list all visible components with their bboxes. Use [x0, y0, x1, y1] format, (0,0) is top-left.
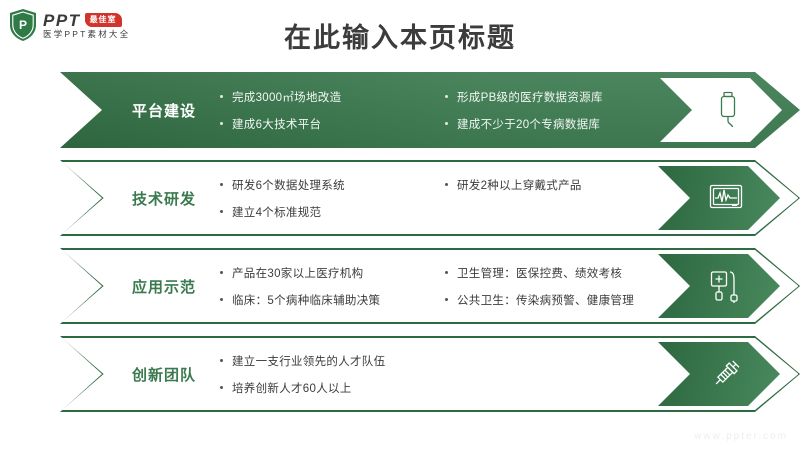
list-item: 研发6个数据处理系统 [220, 171, 445, 198]
process-rows: 平台建设 完成3000㎡场地改造 形成PB级的医疗数据资源库 建成6大技术平台 … [0, 72, 800, 424]
list-item: 临床：5个病种临床辅助决策 [220, 286, 445, 313]
list-item: 公共卫生：传染病预警、健康管理 [445, 286, 670, 313]
list-item: 形成PB级的医疗数据资源库 [445, 83, 670, 110]
list-item: 卫生管理：医保控费、绩效考核 [445, 259, 670, 286]
ecg-monitor-icon [709, 184, 743, 212]
bullet-dot [445, 298, 448, 301]
list-item: 建成不少于20个专病数据库 [445, 110, 670, 137]
process-row[interactable]: 平台建设 完成3000㎡场地改造 形成PB级的医疗数据资源库 建成6大技术平台 … [60, 72, 800, 148]
row-bullets: 研发6个数据处理系统 研发2种以上穿戴式产品 建立4个标准规范 [220, 160, 670, 236]
bullet-dot [445, 95, 448, 98]
slide-canvas: P PPT 最佳室 医学PPT素材大全 在此输入本页标题 平台建设 完成3000… [0, 0, 800, 450]
bullet-dot [220, 271, 223, 274]
list-item-label: 研发2种以上穿戴式产品 [457, 177, 582, 193]
list-item-label: 建立4个标准规范 [232, 204, 321, 220]
site-watermark: www.ppter.com [694, 431, 788, 442]
list-item-label: 建立一支行业领先的人才队伍 [232, 353, 385, 369]
row-label: 技术研发 [108, 160, 220, 236]
list-item-label: 公共卫生：传染病预警、健康管理 [457, 292, 634, 308]
list-item: 研发2种以上穿戴式产品 [445, 171, 670, 198]
page-title: 在此输入本页标题 [0, 16, 800, 55]
bullet-dot [220, 95, 223, 98]
iv-drip-icon [715, 91, 741, 129]
bullet-dot [220, 122, 223, 125]
row-bullets: 产品在30家以上医疗机构 卫生管理：医保控费、绩效考核 临床：5个病种临床辅助决… [220, 248, 670, 324]
row-bullets: 完成3000㎡场地改造 形成PB级的医疗数据资源库 建成6大技术平台 建成不少于… [220, 72, 670, 148]
bullet-dot [220, 386, 223, 389]
list-item-label: 研发6个数据处理系统 [232, 177, 345, 193]
list-item: 培养创新人才60人以上 [220, 374, 670, 401]
bullet-dot [445, 122, 448, 125]
row-bullets: 建立一支行业领先的人才队伍 培养创新人才60人以上 [220, 336, 670, 412]
list-item-label: 完成3000㎡场地改造 [232, 89, 341, 105]
list-item: 完成3000㎡场地改造 [220, 83, 445, 110]
list-item-label: 卫生管理：医保控费、绩效考核 [457, 265, 622, 281]
list-item-label: 产品在30家以上医疗机构 [232, 265, 363, 281]
process-row[interactable]: 创新团队 建立一支行业领先的人才队伍 培养创新人才60人以上 [60, 336, 800, 412]
bullet-dot [220, 359, 223, 362]
bullet-dot [445, 271, 448, 274]
list-item: 产品在30家以上医疗机构 [220, 259, 445, 286]
row-label: 平台建设 [108, 72, 220, 148]
row-label: 应用示范 [108, 248, 220, 324]
syringe-icon [708, 356, 744, 392]
list-item-label: 临床：5个病种临床辅助决策 [232, 292, 380, 308]
list-item-label: 形成PB级的医疗数据资源库 [457, 89, 603, 105]
list-item-label: 培养创新人才60人以上 [232, 380, 352, 396]
infusion-pump-icon [710, 269, 742, 303]
bullet-dot [220, 210, 223, 213]
process-row[interactable]: 应用示范 产品在30家以上医疗机构 卫生管理：医保控费、绩效考核 临床：5个病种… [60, 248, 800, 324]
list-item-label: 建成6大技术平台 [232, 116, 321, 132]
list-item: 建立4个标准规范 [220, 198, 445, 225]
bullet-dot [445, 183, 448, 186]
list-item: 建立一支行业领先的人才队伍 [220, 347, 670, 374]
list-item: 建成6大技术平台 [220, 110, 445, 137]
process-row[interactable]: 技术研发 研发6个数据处理系统 研发2种以上穿戴式产品 建立4个标准规范 [60, 160, 800, 236]
bullet-dot [220, 183, 223, 186]
bullet-dot [220, 298, 223, 301]
row-label: 创新团队 [108, 336, 220, 412]
list-item-label: 建成不少于20个专病数据库 [457, 116, 600, 132]
